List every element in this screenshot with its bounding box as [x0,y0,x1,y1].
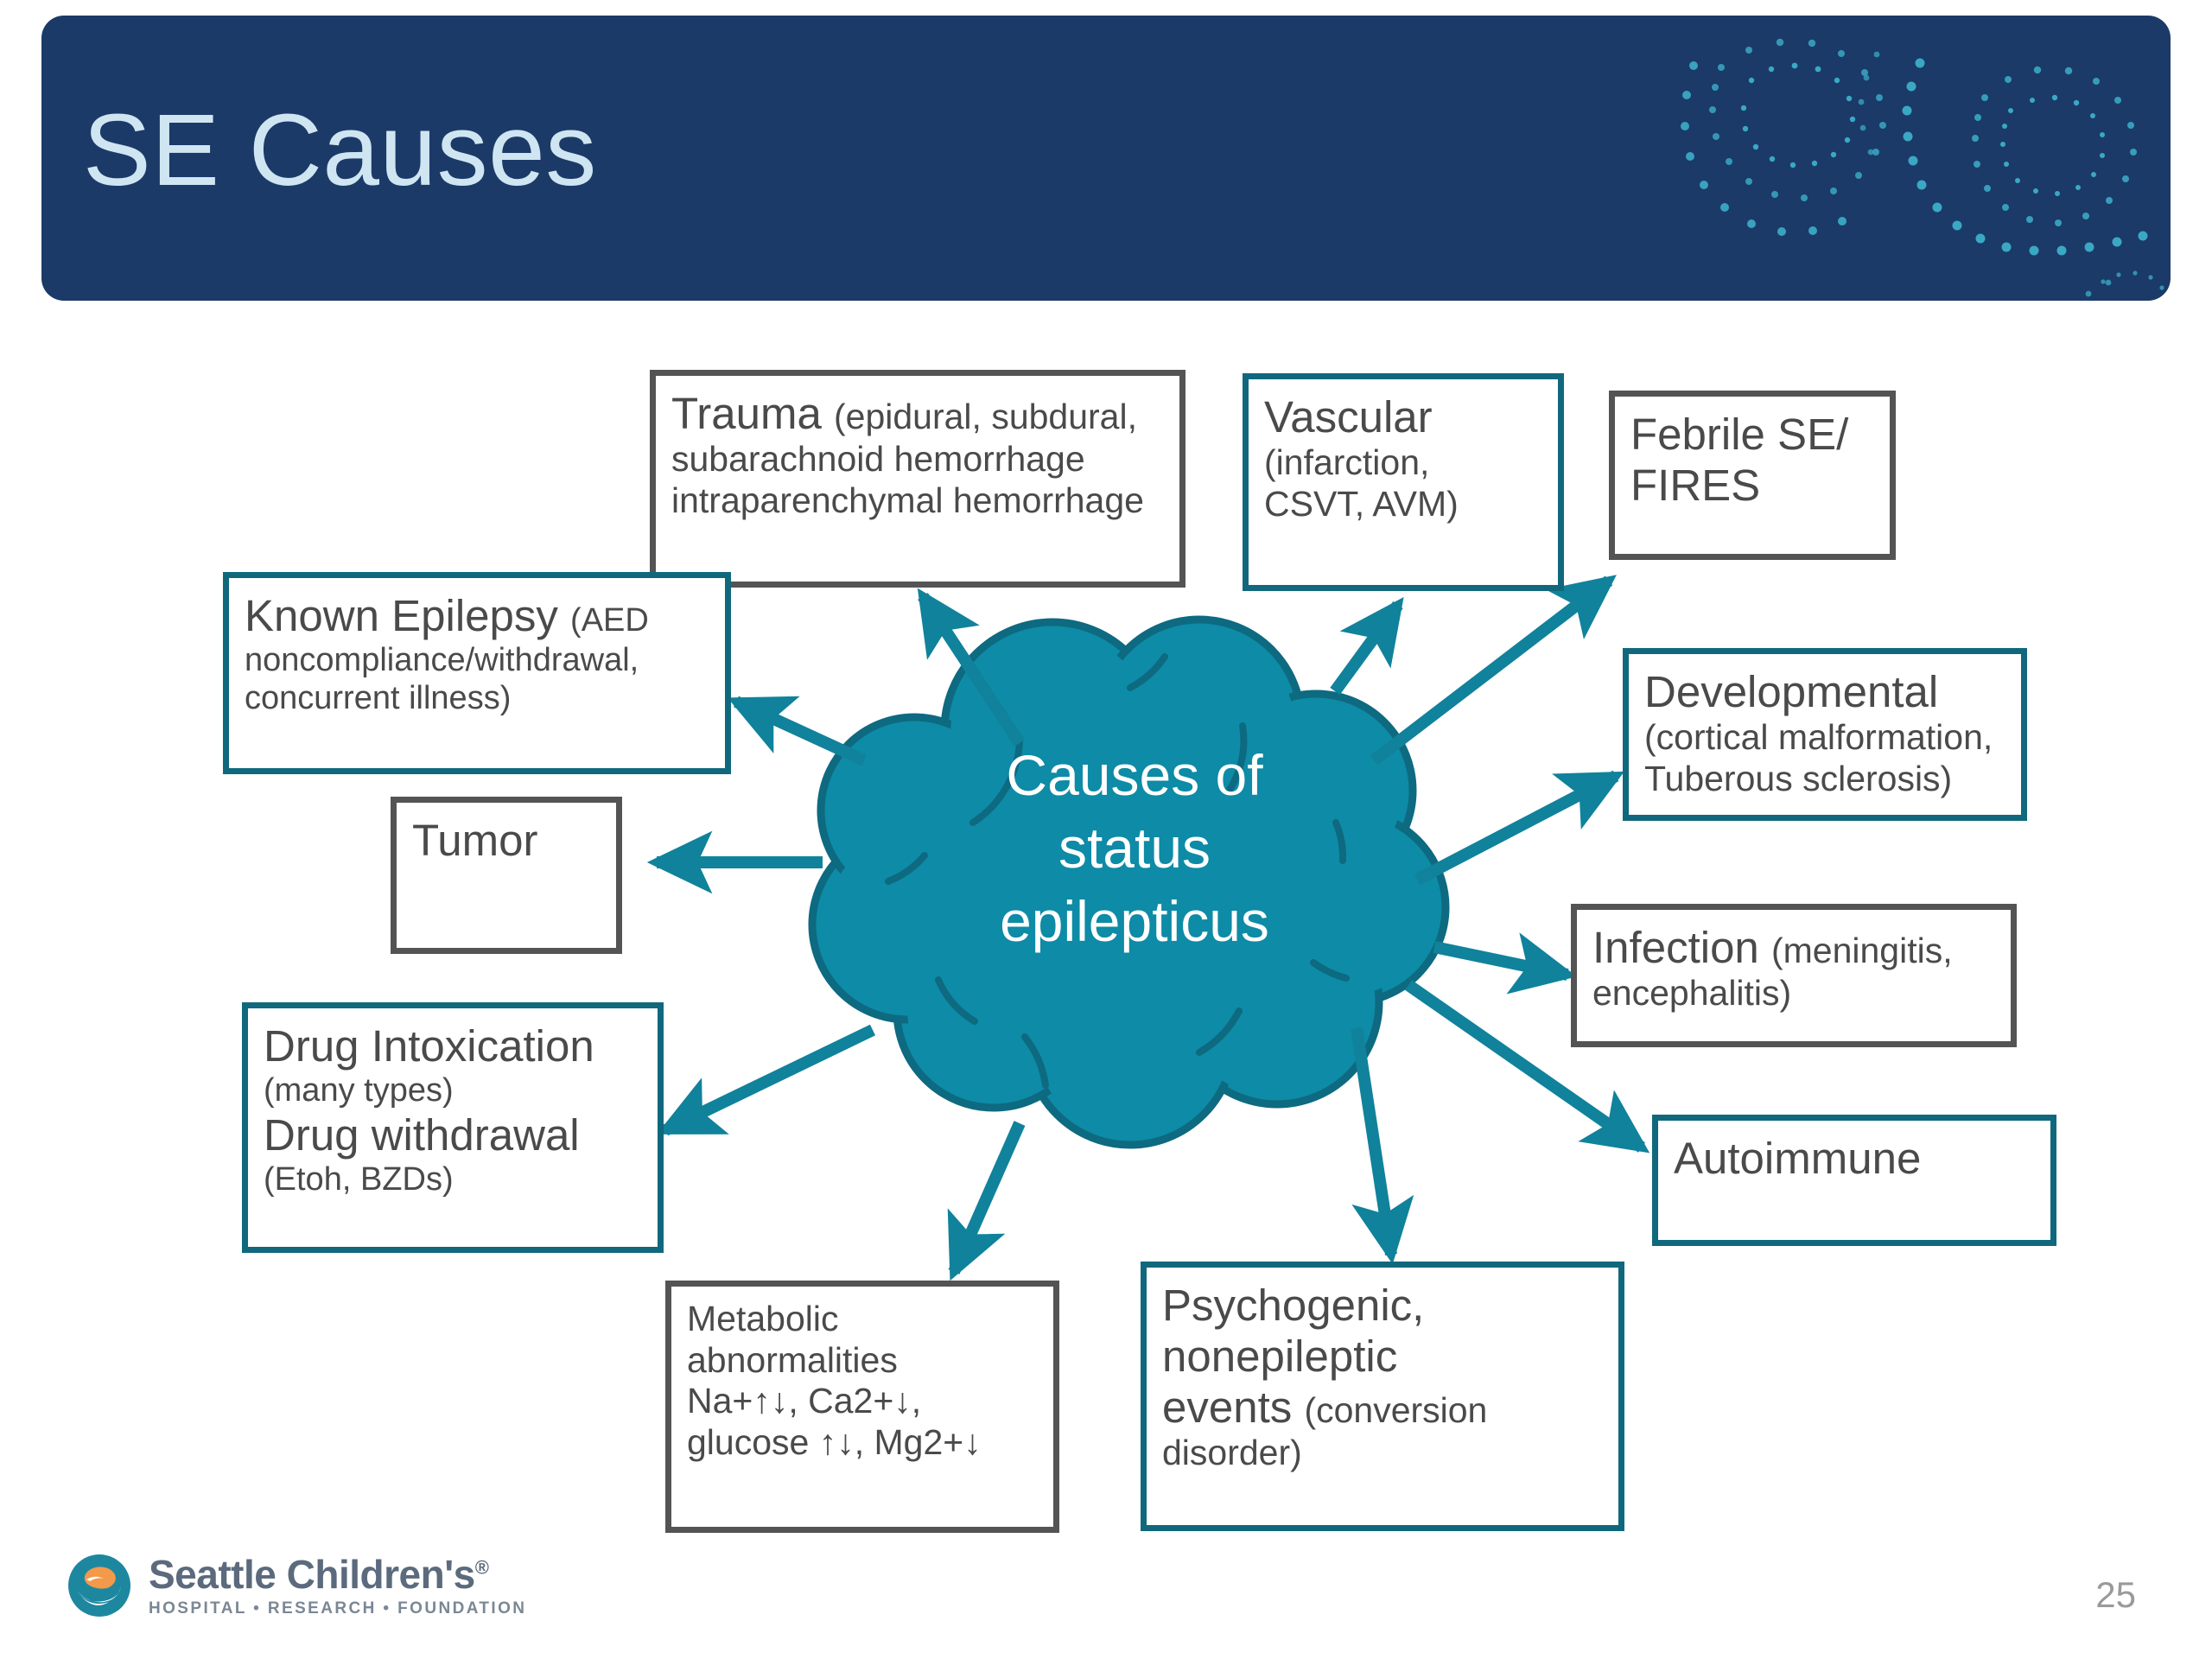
infection-line-1: Infection (meningitis, [1592,922,1995,973]
metabolic-line-4: glucose ↑↓, Mg2+↓ [687,1422,1038,1464]
cause-box-autoimmune[interactable]: Autoimmune [1652,1115,2056,1246]
drug-intoxication-detail: (many types) [264,1071,642,1109]
arrow-to-drug [665,1030,873,1130]
cause-box-infection[interactable]: Infection (meningitis, encephalitis) [1571,904,2017,1047]
vascular-line-3: CSVT, AVM) [1264,484,1542,525]
known-epilepsy-title: Known Epilepsy [245,591,570,640]
trauma-title: Trauma [671,389,834,438]
infection-line-2: encephalitis) [1592,973,1995,1014]
vascular-title: Vascular [1264,391,1542,442]
arrow-to-infection [1434,947,1567,975]
psychogenic-line-2: nonepileptic [1162,1331,1603,1382]
cause-box-known-epilepsy[interactable]: Known Epilepsy (AED noncompliance/withdr… [223,572,731,774]
psychogenic-line-4: disorder) [1162,1433,1603,1474]
psychogenic-detail-a: (conversion [1304,1390,1487,1430]
drug-withdrawal-detail: (Etoh, BZDs) [264,1160,642,1198]
psychogenic-title-events: events [1162,1382,1304,1432]
metabolic-line-2: abnormalities [687,1340,1038,1382]
arrow-to-known-epilepsy [736,702,864,760]
tumor-title: Tumor [412,815,601,866]
infection-detail-a: (meningitis, [1771,931,1953,970]
autoimmune-title: Autoimmune [1674,1133,2035,1184]
known-epilepsy-line-3: concurrent illness) [245,679,709,717]
known-epilepsy-line-1: Known Epilepsy (AED [245,590,709,641]
developmental-title: Developmental [1644,666,2005,717]
trauma-line-2: subarachnoid hemorrhage [671,439,1164,480]
trauma-detail-a: (epidural, subdural, [834,397,1137,436]
arrow-to-vascular [1335,605,1398,691]
known-epilepsy-detail-a: (AED [570,602,649,639]
arrow-to-metabolic [954,1123,1020,1272]
metabolic-line-1: Metabolic [687,1299,1038,1340]
arrow-to-psychogenic [1357,1028,1391,1255]
arrow-to-febrile [1374,581,1609,760]
cause-box-psychogenic-nonepileptic-events[interactable]: Psychogenic, nonepileptic events (conver… [1141,1262,1624,1531]
vascular-line-2: (infarction, [1264,442,1542,484]
infection-title: Infection [1592,923,1771,972]
febrile-line-1: Febrile SE/ [1630,409,1874,460]
trauma-line-1: Trauma (epidural, subdural, [671,388,1164,439]
psychogenic-line-1: Psychogenic, [1162,1280,1603,1331]
known-epilepsy-line-2: noncompliance/withdrawal, [245,641,709,679]
cause-box-developmental[interactable]: Developmental (cortical malformation, Tu… [1623,648,2027,821]
developmental-line-3: Tuberous sclerosis) [1644,759,2005,800]
cause-box-drug-intoxication-withdrawal[interactable]: Drug Intoxication (many types) Drug with… [242,1002,664,1253]
drug-withdrawal-title: Drug withdrawal [264,1109,642,1160]
cause-box-trauma[interactable]: Trauma (epidural, subdural, subarachnoid… [650,370,1185,588]
cause-box-vascular[interactable]: Vascular (infarction, CSVT, AVM) [1243,373,1564,591]
psychogenic-line-3: events (conversion [1162,1382,1603,1433]
trauma-line-3: intraparenchymal hemorrhage [671,480,1164,522]
drug-intoxication-title: Drug Intoxication [264,1020,642,1071]
febrile-line-2: FIRES [1630,460,1874,511]
developmental-line-2: (cortical malformation, [1644,717,2005,759]
metabolic-line-3: Na+↑↓, Ca2+↓, [687,1381,1038,1422]
arrow-to-developmental [1417,776,1616,880]
arrow-to-trauma [923,596,1020,743]
cause-box-metabolic-abnormalities[interactable]: Metabolic abnormalities Na+↑↓, Ca2+↓, gl… [665,1281,1059,1533]
arrow-connectors [0,0,2212,1659]
slide-canvas: SE Causes [0,0,2212,1659]
cause-box-tumor[interactable]: Tumor [391,797,622,954]
cause-box-febrile-se-fires[interactable]: Febrile SE/ FIRES [1609,391,1896,560]
